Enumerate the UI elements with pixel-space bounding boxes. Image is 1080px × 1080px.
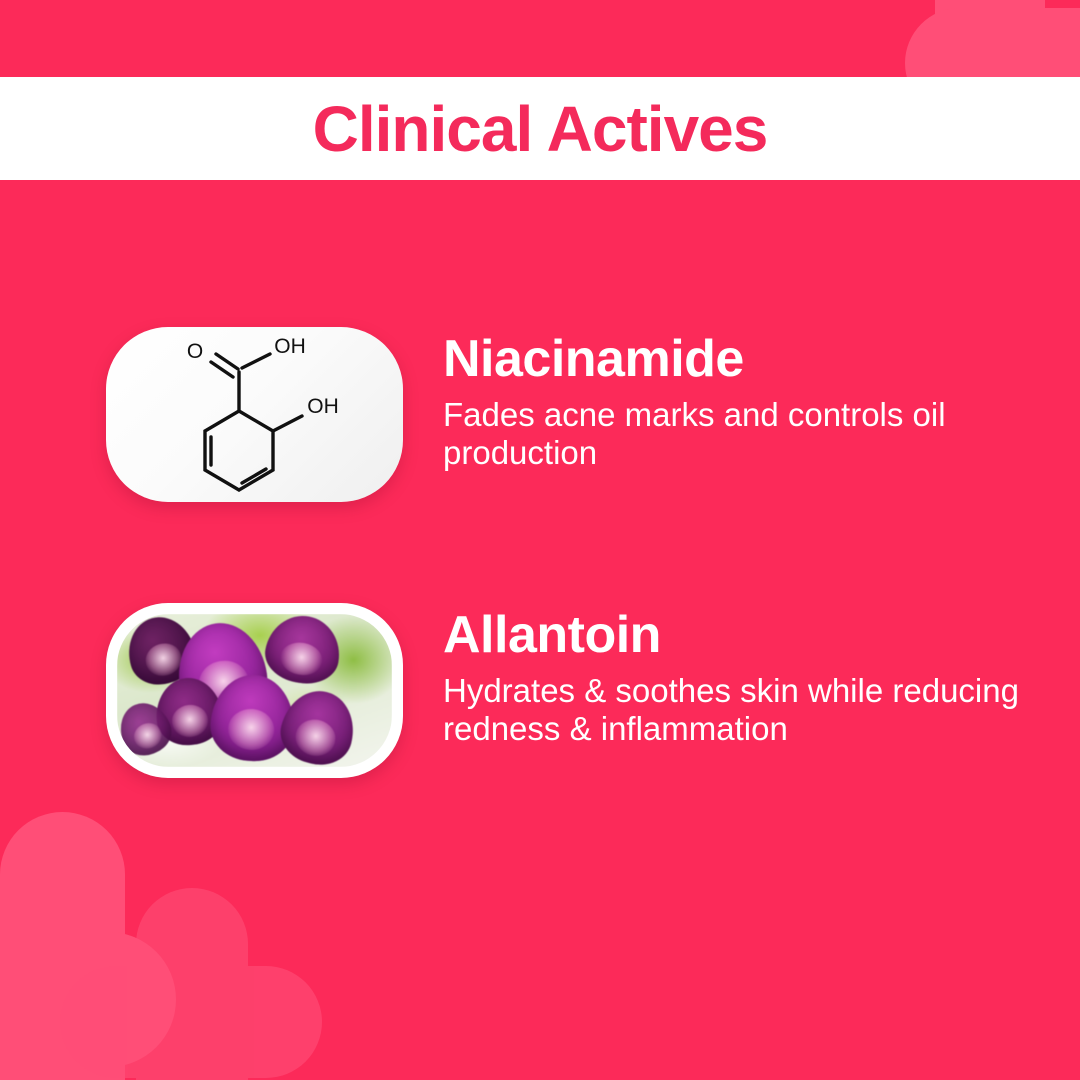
cross-vertical-bar: [0, 812, 125, 1080]
ingredient-row: Allantoin Hydrates & soothes skin while …: [106, 603, 1026, 778]
page-title: Clinical Actives: [313, 97, 768, 161]
ingredient-thumbnail-photo: [106, 603, 403, 778]
cross-horizontal-bar: [0, 932, 176, 1067]
ingredient-text: Niacinamide Fades acne marks and control…: [443, 327, 1023, 472]
comfrey-flower-photo: [117, 614, 392, 767]
salicylic-acid-structure-icon: O OH OH: [106, 327, 403, 502]
title-banner: Clinical Actives: [0, 77, 1080, 180]
ingredient-text: Allantoin Hydrates & soothes skin while …: [443, 603, 1023, 748]
cross-horizontal-bar: [60, 966, 322, 1078]
cross-bottom-left-large-icon: [0, 812, 176, 1080]
ingredient-name: Niacinamide: [443, 333, 1023, 386]
ingredient-description: Hydrates & soothes skin while reducing r…: [443, 672, 1023, 748]
ingredient-row: O OH OH Niacinamide Fades acne marks and…: [106, 327, 1026, 502]
cross-bottom-left-small-icon: [60, 888, 322, 1080]
atom-label-oh-carboxyl: OH: [274, 335, 306, 358]
photo-frame: [117, 614, 392, 767]
cross-vertical-bar: [136, 888, 248, 1080]
ingredient-thumbnail-chemical-structure: O OH OH: [106, 327, 403, 502]
atom-label-o: O: [187, 340, 203, 363]
atom-label-oh-phenol: OH: [307, 395, 339, 418]
ingredient-name: Allantoin: [443, 609, 1023, 662]
ingredient-description: Fades acne marks and controls oil produc…: [443, 396, 1023, 472]
promo-graphic: Clinical Actives: [0, 0, 1080, 1080]
